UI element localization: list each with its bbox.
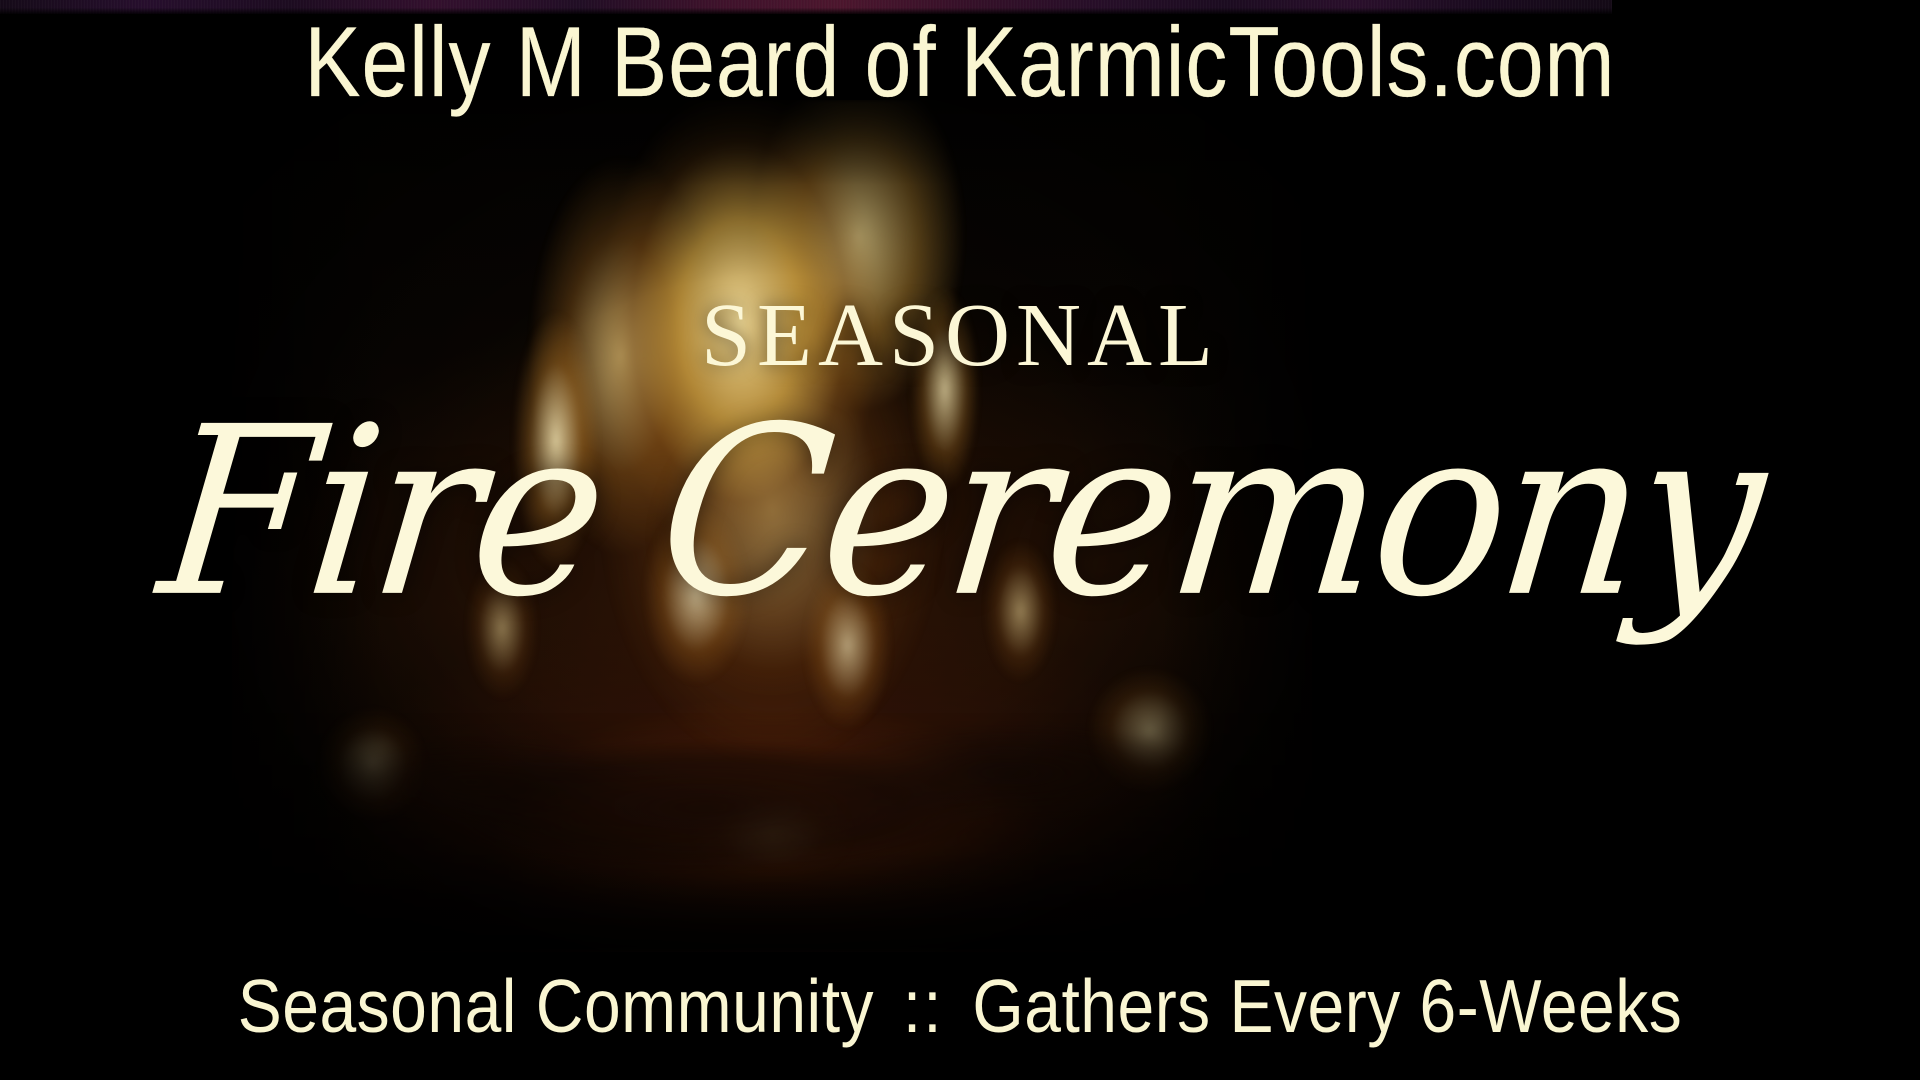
headline-script-title: Fire Ceremony: [0, 391, 1920, 636]
footer-separator: ::: [893, 963, 954, 1047]
headline-eyebrow: Seasonal: [0, 258, 1920, 386]
poster-canvas: Kelly M Beard of KarmicTools.com Seasona…: [0, 0, 1920, 1080]
footer-tagline: Seasonal Community :: Gathers Every 6-We…: [0, 968, 1920, 1043]
footer-right-text: Gathers Every 6-Weeks: [972, 963, 1682, 1047]
footer-left-text: Seasonal Community: [238, 963, 874, 1047]
site-title: Kelly M Beard of KarmicTools.com: [0, 12, 1920, 111]
